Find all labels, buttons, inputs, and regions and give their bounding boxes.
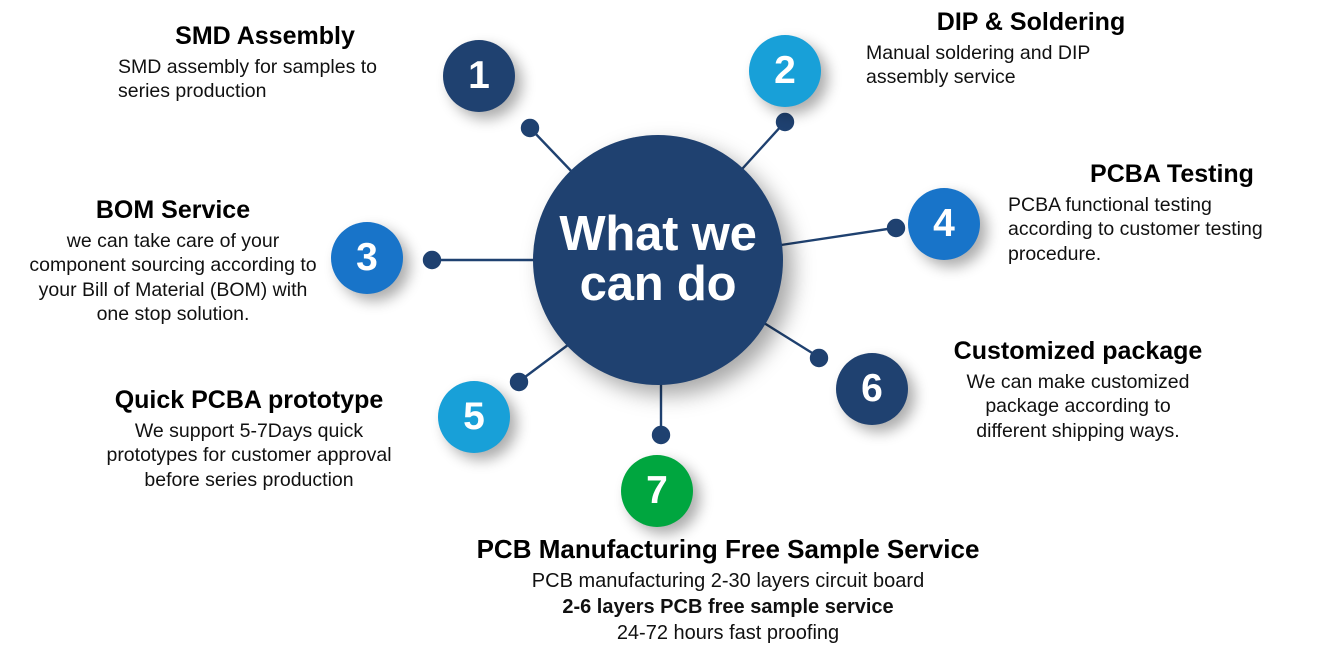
node-title-2: DIP & Soldering [866, 8, 1196, 38]
node-title-4: PCBA Testing [1008, 160, 1336, 190]
spoke-line-4 [781, 228, 894, 245]
node-body-5: We support 5-7Days quickprototypes for c… [58, 419, 440, 493]
spoke-dot-2 [777, 114, 793, 130]
hub-label-line-2: can do [580, 260, 737, 310]
node-circle-2[interactable]: 2 [749, 35, 821, 107]
node-title-3: BOM Service [14, 196, 332, 226]
spoke-dot-7 [653, 427, 669, 443]
node-text-6: Customized package We can make customize… [918, 337, 1238, 443]
hub-label-line-1: What we [559, 210, 756, 260]
node-body-1: SMD assembly for samples toseries produc… [100, 55, 430, 104]
node-text-2: DIP & Soldering Manual soldering and DIP… [866, 8, 1196, 90]
spoke-dot-4 [888, 220, 904, 236]
node-title-6: Customized package [918, 337, 1238, 367]
node-body-4: PCBA functional testingaccording to cust… [1008, 193, 1336, 267]
hub-circle[interactable]: What we can do [533, 135, 783, 385]
node-circle-7[interactable]: 7 [621, 455, 693, 527]
node-text-5: Quick PCBA prototype We support 5-7Days … [58, 386, 440, 492]
node-title-5: Quick PCBA prototype [58, 386, 440, 416]
node-circle-4[interactable]: 4 [908, 188, 980, 260]
spoke-dot-5 [511, 374, 527, 390]
infographic-canvas: What we can do 1 2 3 4 5 6 7 SMD Assembl… [0, 0, 1336, 665]
node-text-7: PCB Manufacturing Free Sample Service PC… [398, 534, 1058, 647]
node-text-1: SMD Assembly SMD assembly for samples to… [100, 22, 430, 104]
node-text-4: PCBA Testing PCBA functional testingacco… [1008, 160, 1336, 266]
node-title-7: PCB Manufacturing Free Sample Service [398, 534, 1058, 565]
node-circle-5[interactable]: 5 [438, 381, 510, 453]
spoke-dot-1 [522, 120, 538, 136]
node-circle-3[interactable]: 3 [331, 222, 403, 294]
node-text-3: BOM Service we can take care of yourcomp… [14, 196, 332, 327]
node-body-7: PCB manufacturing 2-30 layers circuit bo… [398, 568, 1058, 647]
node-circle-6[interactable]: 6 [836, 353, 908, 425]
spoke-dot-3 [424, 252, 440, 268]
spoke-dot-6 [811, 350, 827, 366]
node-title-1: SMD Assembly [100, 22, 430, 52]
node-body-6: We can make customizedpackage according … [918, 370, 1238, 444]
node-circle-1[interactable]: 1 [443, 40, 515, 112]
node-body-3: we can take care of yourcomponent sourci… [14, 229, 332, 327]
node-body-2: Manual soldering and DIPassembly service [866, 41, 1196, 90]
